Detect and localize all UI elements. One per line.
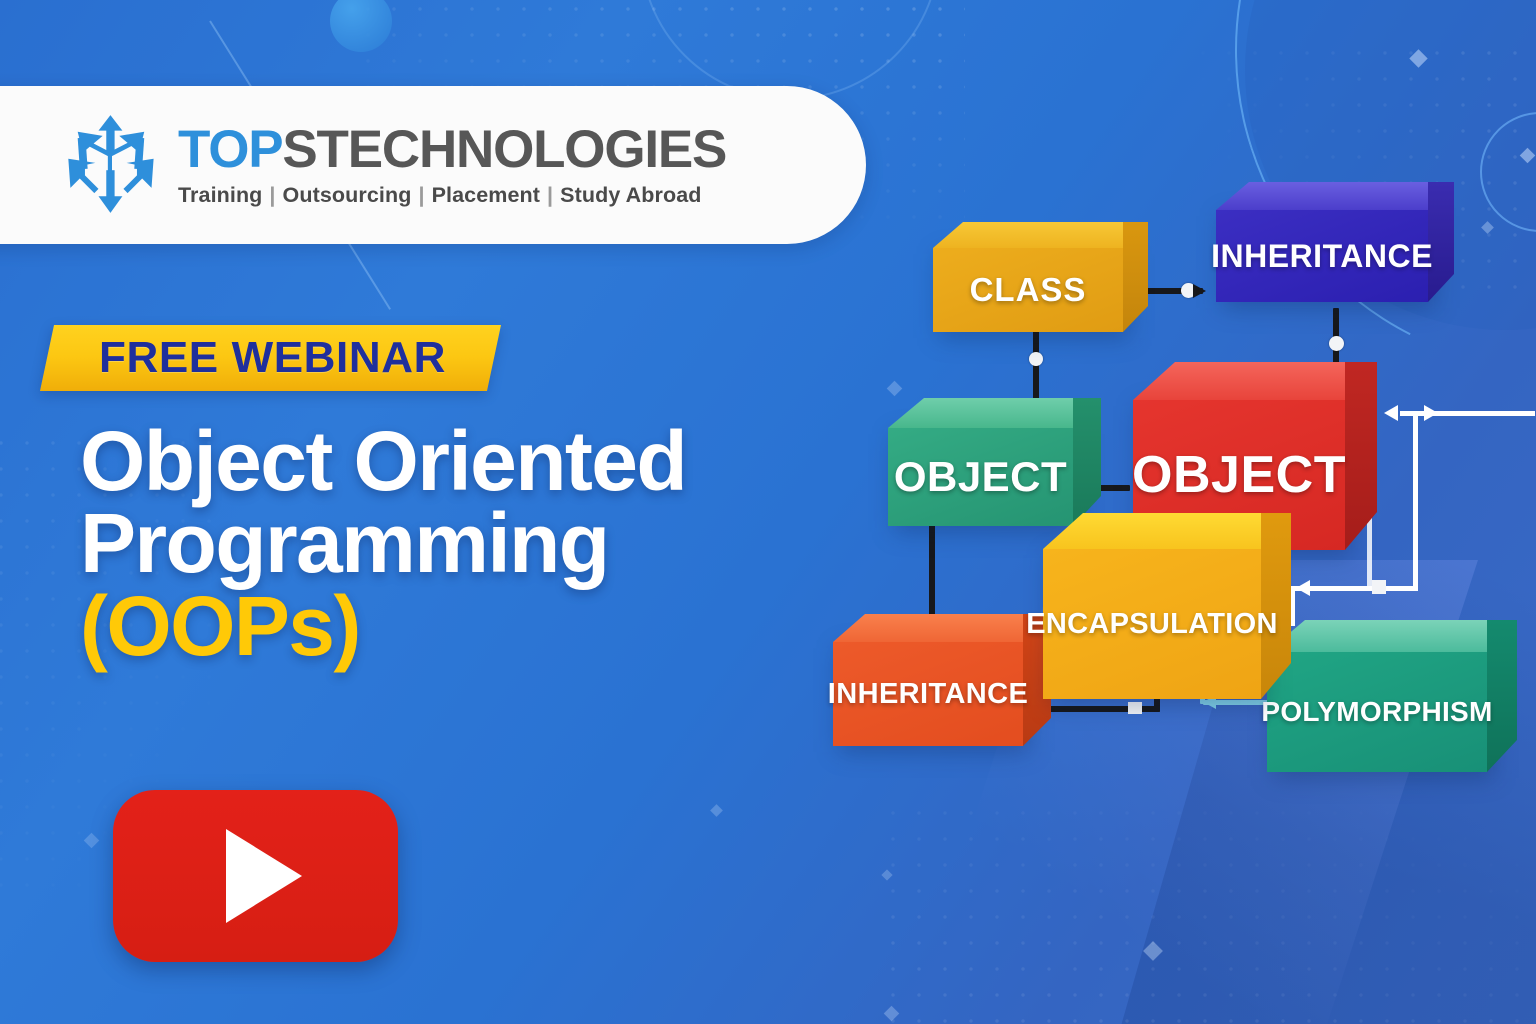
concept-label-inheritance-bottom: INHERITANCE	[833, 642, 1023, 746]
title-line-2: Programming	[80, 502, 870, 584]
diamond-accent	[1143, 941, 1163, 961]
concept-label-polymorphism: POLYMORPHISM	[1267, 652, 1487, 772]
tagline-sep: |	[540, 183, 560, 207]
background-ring-small	[1480, 112, 1536, 232]
concept-label-inheritance-top: INHERITANCE	[1216, 210, 1428, 302]
concept-label-encapsulation: ENCAPSULATION	[1043, 549, 1261, 699]
webinar-promo-banner: TOPSTECHNOLOGIES Training|Outsourcing|Pl…	[0, 0, 1536, 1024]
brand-name: TOPSTECHNOLOGIES	[178, 123, 726, 176]
concept-label-object-green: OBJECT	[888, 428, 1073, 526]
box-top-face	[888, 398, 1073, 428]
brand-tagline: Training|Outsourcing|Placement|Study Abr…	[178, 183, 726, 208]
box-top-face	[1133, 362, 1345, 400]
box-side-face	[1345, 362, 1377, 550]
connector-node	[1372, 580, 1386, 594]
diamond-accent	[881, 869, 892, 880]
diamond-accent	[887, 381, 903, 397]
white-connector-right	[1413, 411, 1418, 591]
connector-node	[1029, 352, 1043, 366]
concept-label-class: CLASS	[933, 248, 1123, 332]
background-ring-top	[640, 0, 940, 100]
tagline-study-abroad: Study Abroad	[560, 183, 701, 207]
cube-arrows-icon	[60, 113, 164, 217]
arrow-head-icon	[1424, 405, 1438, 421]
arrow-head-icon	[1296, 580, 1310, 596]
diamond-accent	[884, 1006, 900, 1022]
connector-node	[1329, 336, 1344, 351]
tagline-placement: Placement	[432, 183, 540, 207]
brand-name-stechnologies: STECHNOLOGIES	[282, 120, 726, 179]
free-webinar-label: FREE WEBINAR	[99, 333, 446, 383]
arrow-head-icon	[1193, 284, 1206, 298]
dot-grid-bottom-right	[880, 800, 1536, 1024]
box-top-face	[833, 614, 1023, 642]
diamond-accent	[1409, 49, 1427, 67]
brand-wordmark: TOPSTECHNOLOGIES Training|Outsourcing|Pl…	[178, 123, 726, 208]
title-line-1: Object Oriented	[80, 420, 870, 502]
connector-object-green-to-inheritance	[929, 520, 935, 630]
page-title: Object Oriented Programming (OOPs)	[80, 420, 870, 667]
arrow-head-icon	[1384, 405, 1398, 421]
box-top-face	[1267, 620, 1487, 652]
diamond-accent	[1520, 148, 1536, 164]
title-line-3: (OOPs)	[80, 585, 870, 667]
free-webinar-ribbon: FREE WEBINAR	[40, 325, 501, 391]
box-side-face	[1073, 398, 1101, 526]
brand-name-top: TOP	[178, 120, 282, 179]
youtube-play-button[interactable]	[113, 790, 398, 962]
white-connector-top	[1400, 411, 1535, 416]
diamond-accent	[84, 833, 100, 849]
diamond-accent	[710, 804, 723, 817]
background-circle-blob	[330, 0, 392, 52]
diamond-accent	[1481, 221, 1494, 234]
play-triangle-icon	[226, 829, 302, 923]
brand-logo-panel: TOPSTECHNOLOGIES Training|Outsourcing|Pl…	[0, 86, 866, 244]
tagline-sep: |	[262, 183, 282, 207]
box-side-face	[1123, 222, 1148, 332]
tagline-sep: |	[411, 183, 431, 207]
box-top-face	[933, 222, 1123, 248]
tagline-outsourcing: Outsourcing	[283, 183, 412, 207]
tagline-training: Training	[178, 183, 262, 207]
box-top-face	[1216, 182, 1428, 210]
